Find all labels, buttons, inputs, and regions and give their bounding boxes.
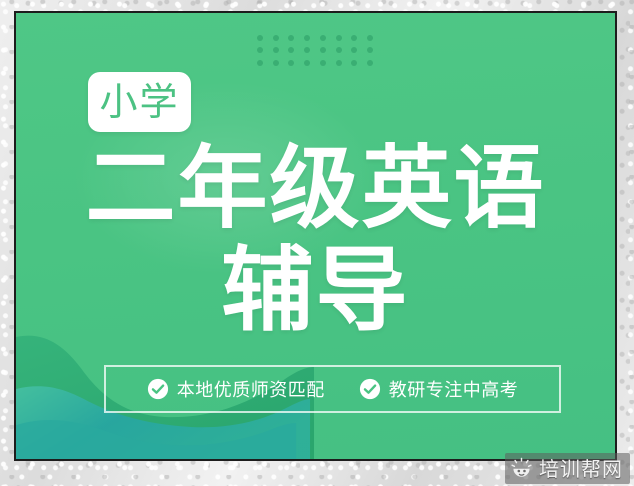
watermark-text: 培训帮网 — [539, 459, 623, 479]
sun-smiley-icon — [510, 457, 533, 480]
feature-label: 本地优质师资匹配 — [177, 376, 325, 402]
level-tag-badge: 小学 — [88, 72, 191, 132]
feature-item: 本地优质师资匹配 — [147, 376, 325, 402]
check-circle-icon — [147, 378, 169, 400]
feature-label: 教研专注中高考 — [389, 376, 519, 402]
feature-highlights-box: 本地优质师资匹配 教研专注中高考 — [104, 365, 561, 413]
headline-line-1: 二年级英语 — [16, 144, 615, 234]
dot-grid-icon — [252, 32, 378, 69]
feature-item: 教研专注中高考 — [359, 376, 519, 402]
site-watermark: 培训帮网 — [505, 453, 630, 484]
check-circle-icon — [359, 378, 381, 400]
promo-poster-card: 小学 二年级英语 辅导 本地优质师资匹配 — [14, 11, 617, 461]
headline-line-2: 辅导 — [16, 245, 615, 337]
level-tag-label: 小学 — [99, 83, 179, 121]
